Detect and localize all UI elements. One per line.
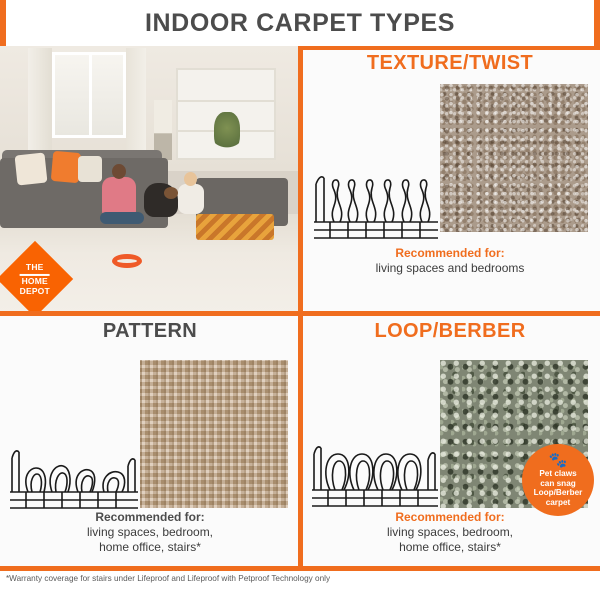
- living-room-photo-cell: THE HOME DEPOT: [0, 46, 300, 314]
- curtain-right: [126, 48, 146, 160]
- pattern-fiber-diagram: [10, 436, 138, 514]
- logo-line-depot: DEPOT: [20, 285, 50, 295]
- logo-line-home: HOME: [22, 276, 48, 286]
- pattern-recommendation: Recommended for: living spaces, bedroom,…: [0, 510, 300, 555]
- texture-twist-fiber-diagram: [314, 164, 438, 242]
- loop-berber-rec-label: Recommended for:: [300, 510, 600, 525]
- curtain-left: [28, 48, 52, 158]
- child-head: [184, 172, 197, 186]
- woman-legs: [100, 212, 144, 224]
- dog-figure: [144, 183, 178, 217]
- pattern-carpet-swatch: [140, 360, 288, 508]
- pattern-panel: PATTERN: [0, 314, 300, 566]
- window: [52, 52, 126, 138]
- pattern-rec-line-1: living spaces, bedroom,: [0, 525, 300, 540]
- divider-vertical-bottom: [298, 314, 303, 566]
- woman-torso: [102, 177, 136, 217]
- cell-texture-twist: TEXTURE/TWIST R: [300, 46, 600, 314]
- dog-toy: [112, 254, 142, 268]
- loop-berber-panel: LOOP/BERBER: [300, 314, 600, 566]
- texture-twist-title: TEXTURE/TWIST: [300, 52, 600, 75]
- logo-rule: [20, 274, 50, 276]
- living-room-photo: THE HOME DEPOT: [0, 46, 298, 314]
- loop-berber-title: LOOP/BERBER: [300, 320, 600, 343]
- throw-pillow: [51, 151, 82, 183]
- paw-icon: 🐾: [549, 453, 568, 468]
- divider-vertical-top: [298, 46, 303, 314]
- texture-twist-rec-line-1: living spaces and bedrooms: [300, 261, 600, 276]
- pattern-title: PATTERN: [0, 320, 300, 343]
- page-title: INDOOR CARPET TYPES: [145, 11, 455, 36]
- header-accent-right: [594, 0, 600, 46]
- texture-twist-carpet-swatch: [440, 84, 588, 232]
- footnote: *Warranty coverage for stairs under Life…: [6, 574, 596, 584]
- header: INDOOR CARPET TYPES: [0, 0, 600, 46]
- texture-twist-panel: TEXTURE/TWIST R: [300, 46, 600, 314]
- child-figure: [176, 172, 206, 224]
- home-depot-logo-text: THE HOME DEPOT: [20, 263, 50, 296]
- blanket: [196, 214, 274, 240]
- divider-top-right: [300, 46, 600, 50]
- loop-berber-rec-line-1: living spaces, bedroom,: [300, 525, 600, 540]
- woman-head: [112, 164, 126, 179]
- throw-pillow: [15, 153, 48, 186]
- houseplant: [214, 112, 240, 152]
- infographic-root: INDOOR CARPET TYPES: [0, 0, 600, 600]
- child-torso: [178, 184, 204, 214]
- woman-figure: [98, 164, 140, 226]
- loop-berber-rec-line-2: home office, stairs*: [300, 540, 600, 555]
- texture-twist-recommendation: Recommended for: living spaces and bedro…: [300, 246, 600, 276]
- header-accent-left: [0, 0, 6, 46]
- texture-twist-rec-label: Recommended for:: [300, 246, 600, 261]
- cell-loop-berber: LOOP/BERBER: [300, 314, 600, 566]
- pattern-rec-line-2: home office, stairs*: [0, 540, 300, 555]
- pet-claws-warning-badge: 🐾 Pet claws can snag Loop/Berber carpet: [522, 444, 594, 516]
- loop-berber-recommendation: Recommended for: living spaces, bedroom,…: [300, 510, 600, 555]
- pet-badge-line-2: can snag: [540, 479, 576, 489]
- pet-badge-line-3: Loop/Berber: [534, 488, 583, 498]
- pet-badge-line-1: Pet claws: [539, 469, 576, 479]
- cell-pattern: PATTERN: [0, 314, 300, 566]
- pattern-rec-label: Recommended for:: [0, 510, 300, 525]
- footer-accent-bar: [0, 566, 600, 571]
- shelf-divider: [178, 100, 274, 102]
- loop-berber-fiber-diagram: [312, 434, 438, 512]
- logo-line-the: THE: [26, 262, 44, 272]
- pet-badge-line-4: carpet: [546, 498, 571, 508]
